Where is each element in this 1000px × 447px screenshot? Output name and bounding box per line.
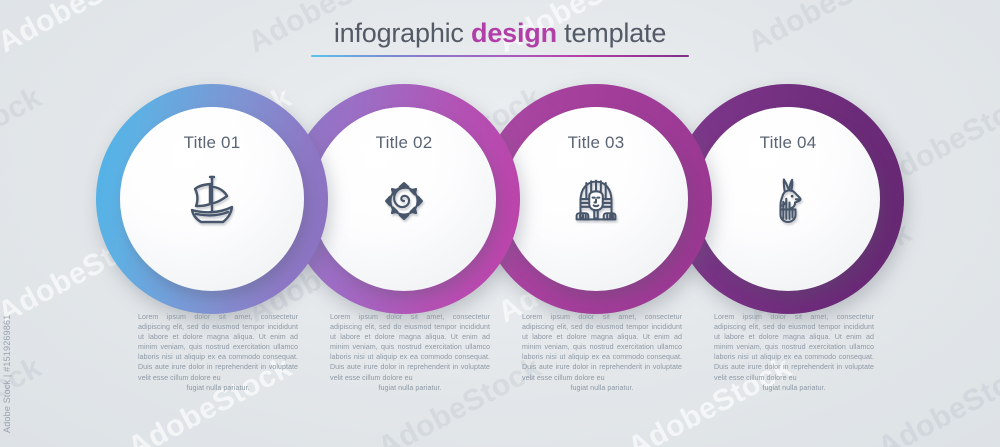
step-disc-3[interactable]: Title 03 [504,107,688,291]
step-description-4: Lorem ipsum dolor sit amet, consectetur … [714,312,874,393]
title-underline-rule [311,55,689,57]
stock-id-label: Adobe Stock | #1519269861 [2,315,12,433]
step-title-4: Title 04 [760,133,817,153]
step-disc-2[interactable]: Title 02 [312,107,496,291]
step-node-1[interactable]: Title 01 [96,84,328,314]
sphinx-icon [560,165,632,237]
step-description-2: Lorem ipsum dolor sit amet, consectetur … [330,312,490,393]
title-accent-word: design [471,18,557,48]
infographic-canvas: AdobeStockAdobeStockAdobeStockAdobeStock… [0,0,1000,447]
step-description-text-4: Lorem ipsum dolor sit amet, consectetur … [714,313,874,382]
title-part-two: template [564,18,666,48]
step-disc-4[interactable]: Title 04 [696,107,880,291]
descriptions-row: Lorem ipsum dolor sit amet, consectetur … [0,312,1000,422]
step-description-1: Lorem ipsum dolor sit amet, consectetur … [138,312,298,393]
step-title-3: Title 03 [568,133,625,153]
step-title-2: Title 02 [376,133,433,153]
step-disc-1[interactable]: Title 01 [120,107,304,291]
step-description-text-1: Lorem ipsum dolor sit amet, consectetur … [138,313,298,382]
page-title: infographic design template [0,16,1000,50]
header: infographic design template [0,16,1000,57]
step-description-3: Lorem ipsum dolor sit amet, consectetur … [522,312,682,393]
step-description-text-3: Lorem ipsum dolor sit amet, consectetur … [522,313,682,382]
step-description-text-2: Lorem ipsum dolor sit amet, consectetur … [330,313,490,382]
step-description-last-4: fugiat nulla pariatur. [714,383,874,393]
steps-row: Title 01 Title 02 [0,84,1000,314]
step-description-last-1: fugiat nulla pariatur. [138,383,298,393]
sailing-ship-icon [176,165,248,237]
title-part-one: infographic [334,18,464,48]
step-description-last-3: fugiat nulla pariatur. [522,383,682,393]
aztec-sun-spiral-icon [368,165,440,237]
step-description-last-2: fugiat nulla pariatur. [330,383,490,393]
anubis-jackal-head-icon [752,165,824,237]
step-title-1: Title 01 [184,133,241,153]
